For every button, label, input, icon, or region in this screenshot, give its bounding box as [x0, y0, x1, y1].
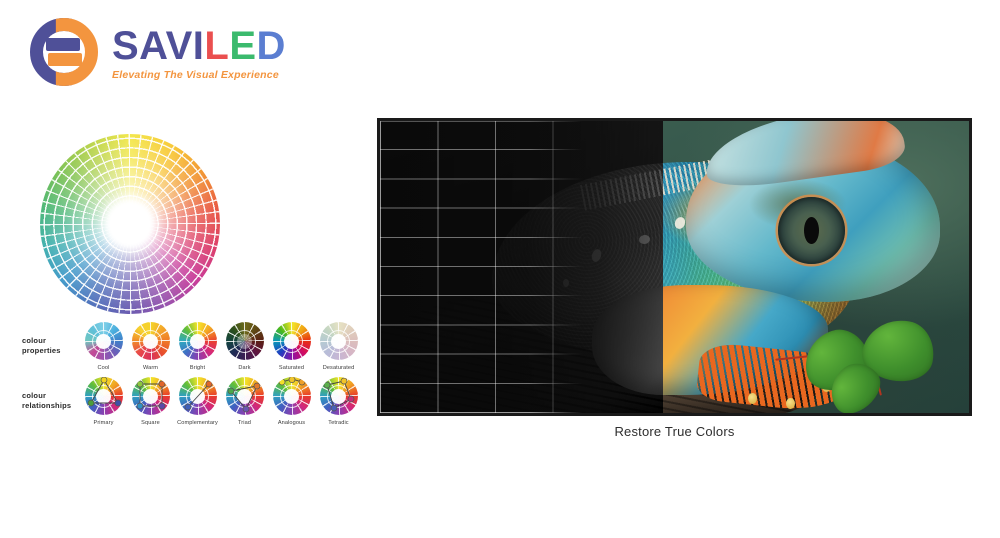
swatch-label-bright: Bright: [190, 365, 205, 371]
swatch-tetradic[interactable]: Tetradic: [315, 377, 362, 426]
monogram-orange-bar: [48, 53, 82, 66]
matrix-row-relationships: colour relationships: [22, 377, 352, 426]
chameleon-pupil: [804, 217, 819, 244]
mini-wheel-desaturated: [320, 322, 358, 360]
swatch-complementary[interactable]: Complementary: [174, 377, 221, 426]
led-display-screen[interactable]: [380, 121, 969, 413]
swatch-label-square: Square: [141, 420, 160, 426]
swatch-warm[interactable]: Warm: [127, 322, 174, 371]
brand-name-l: L: [204, 24, 229, 68]
relationship-swatch-strip: Primary: [80, 377, 362, 426]
relationship-overlay-square: [132, 377, 170, 415]
led-module-grid-border: [380, 121, 583, 413]
swatch-dark[interactable]: Dark: [221, 322, 268, 371]
swatch-analogous[interactable]: Analogous: [268, 377, 315, 426]
swatch-saturated[interactable]: Saturated: [268, 322, 315, 371]
mini-wheel-triad: [226, 377, 264, 415]
mini-wheel-dark: [226, 322, 264, 360]
poster-canvas: SAVILED Elevating The Visual Experience …: [0, 0, 1000, 538]
row-label-properties-line2: properties: [22, 346, 80, 356]
mini-wheel-warm: [132, 322, 170, 360]
saviled-s-monogram-icon: [30, 18, 98, 86]
swatch-label-triad: Triad: [238, 420, 251, 426]
mini-wheel-core: [190, 334, 205, 349]
swatch-label-desaturated: Desaturated: [323, 365, 355, 371]
brand-wordmark: SAVILED Elevating The Visual Experience: [112, 24, 286, 81]
brand-name-savi: SAVI: [112, 24, 204, 68]
mini-wheel-core: [143, 334, 158, 349]
swatch-label-primary: Primary: [94, 420, 114, 426]
relationship-overlay-tetradic: [320, 377, 358, 415]
relationship-overlay-triad: [226, 377, 264, 415]
toe-tip: [748, 393, 757, 404]
brand-tagline: Elevating The Visual Experience: [112, 69, 286, 81]
swatch-triad[interactable]: Triad: [221, 377, 268, 426]
mini-wheel-analogous: [273, 377, 311, 415]
swatch-square[interactable]: Square: [127, 377, 174, 426]
matrix-row-properties: colour properties Cool: [22, 322, 352, 371]
relationship-overlay-complementary: [179, 377, 217, 415]
row-label-relationships-line2: relationships: [22, 401, 80, 411]
row-label-properties-line1: colour: [22, 336, 80, 346]
mini-wheel-tetradic: [320, 377, 358, 415]
monogram-blue-bar: [46, 38, 80, 51]
swatch-desaturated[interactable]: Desaturated: [315, 322, 362, 371]
swatch-primary[interactable]: Primary: [80, 377, 127, 426]
row-label-properties: colour properties: [22, 322, 80, 356]
relationship-overlay-analogous: [273, 377, 311, 415]
swatch-label-dark: Dark: [238, 365, 250, 371]
mini-wheel-core: [284, 334, 299, 349]
mini-wheel-core: [237, 334, 252, 349]
mini-wheel-core: [96, 334, 111, 349]
swatch-bright[interactable]: Bright: [174, 322, 221, 371]
swatch-label-complementary: Complementary: [177, 420, 218, 426]
mini-wheel-bright: [179, 322, 217, 360]
row-label-relationships-line1: colour: [22, 391, 80, 401]
colour-wheel-graphic: [40, 134, 220, 314]
property-swatch-strip: Cool Warm Bright: [80, 322, 362, 371]
brand-name-e: E: [229, 24, 256, 68]
mini-wheel-primary: [85, 377, 123, 415]
swatch-label-cool: Cool: [98, 365, 110, 371]
display-caption: Restore True Colors: [377, 424, 972, 439]
colour-theory-matrix: colour properties Cool: [22, 322, 352, 432]
brand-name-d: D: [257, 24, 286, 68]
row-label-relationships: colour relationships: [22, 377, 80, 411]
mini-wheel-saturated: [273, 322, 311, 360]
swatch-label-tetradic: Tetradic: [328, 420, 348, 426]
colour-wheel-centre: [111, 205, 149, 243]
chameleon-eye: [778, 197, 846, 264]
relationship-overlay-primary: [85, 377, 123, 415]
swatch-cool[interactable]: Cool: [80, 322, 127, 371]
brand-name: SAVILED: [112, 26, 286, 66]
mini-wheel-complementary: [179, 377, 217, 415]
swatch-label-saturated: Saturated: [279, 365, 304, 371]
swatch-label-analogous: Analogous: [278, 420, 305, 426]
mini-wheel-cool: [85, 322, 123, 360]
swatch-label-warm: Warm: [143, 365, 158, 371]
mini-wheel-core: [331, 334, 346, 349]
mini-wheel-square: [132, 377, 170, 415]
led-display-bezel: [377, 118, 972, 416]
brand-logo: SAVILED Elevating The Visual Experience: [30, 16, 290, 88]
